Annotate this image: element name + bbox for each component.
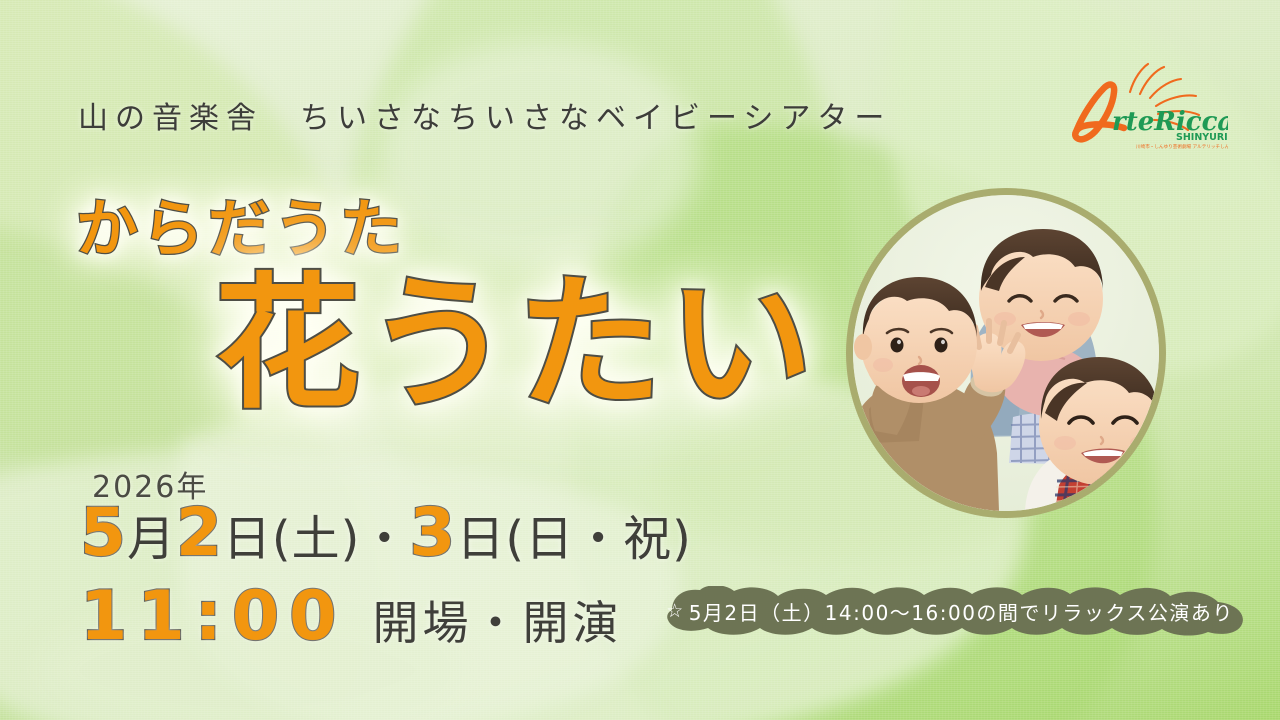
logo-location-text: SHINYURI xyxy=(1176,132,1228,143)
logo-mark-icon: rteRicca SHINYURI 川崎市・しんゆり芸術劇場 アルテリッチしんゆ… xyxy=(1068,58,1228,153)
relax-performance-badge: ☆ 5月2日（土）14:00～16:00の間でリラックス公演あり xyxy=(646,586,1254,636)
day2-number: 3 xyxy=(409,494,456,571)
day1-number: 2 xyxy=(176,494,223,571)
start-time-value: 11:00 xyxy=(80,577,346,656)
badge-label: 5月2日（土）14:00～16:00の間でリラックス公演あり xyxy=(689,597,1234,626)
sub-title-karadauta: からだうた xyxy=(76,178,406,268)
month-kanji: 月 xyxy=(127,511,176,567)
date-separator: ・ xyxy=(360,511,409,567)
main-title-hanautai: 花うたい xyxy=(215,272,819,417)
date-line: 5月2日(土)・3日(日・祝) xyxy=(80,500,692,566)
day1-weekday: (土) xyxy=(272,511,360,567)
open-start-label: 開場・開演 xyxy=(372,596,622,650)
day2-kanji: 日 xyxy=(456,511,505,567)
babies-photo xyxy=(846,188,1166,518)
photo-ring-border xyxy=(846,188,1166,518)
photo-image xyxy=(853,195,1159,511)
day2-weekday: (日・祝) xyxy=(505,511,691,567)
logo-caption-text: 川崎市・しんゆり芸術劇場 アルテリッチしんゆり xyxy=(1136,143,1228,150)
photo-illustration xyxy=(853,195,1159,511)
month-number: 5 xyxy=(80,494,127,571)
badge-text-row: ☆ 5月2日（土）14:00～16:00の間でリラックス公演あり xyxy=(646,586,1254,636)
time-line: 11:00開場・開演 xyxy=(80,583,622,651)
day1-kanji: 日 xyxy=(223,511,272,567)
subtitle-text: 山の音楽舎 ちいさなちいさなベイビーシアター xyxy=(78,93,891,137)
poster-root: 山の音楽舎 ちいさなちいさなベイビーシアター rteRicca SHINYURI… xyxy=(0,0,1280,720)
star-icon: ☆ xyxy=(666,600,685,622)
arte-ricca-logo[interactable]: rteRicca SHINYURI 川崎市・しんゆり芸術劇場 アルテリッチしんゆ… xyxy=(1068,58,1228,153)
